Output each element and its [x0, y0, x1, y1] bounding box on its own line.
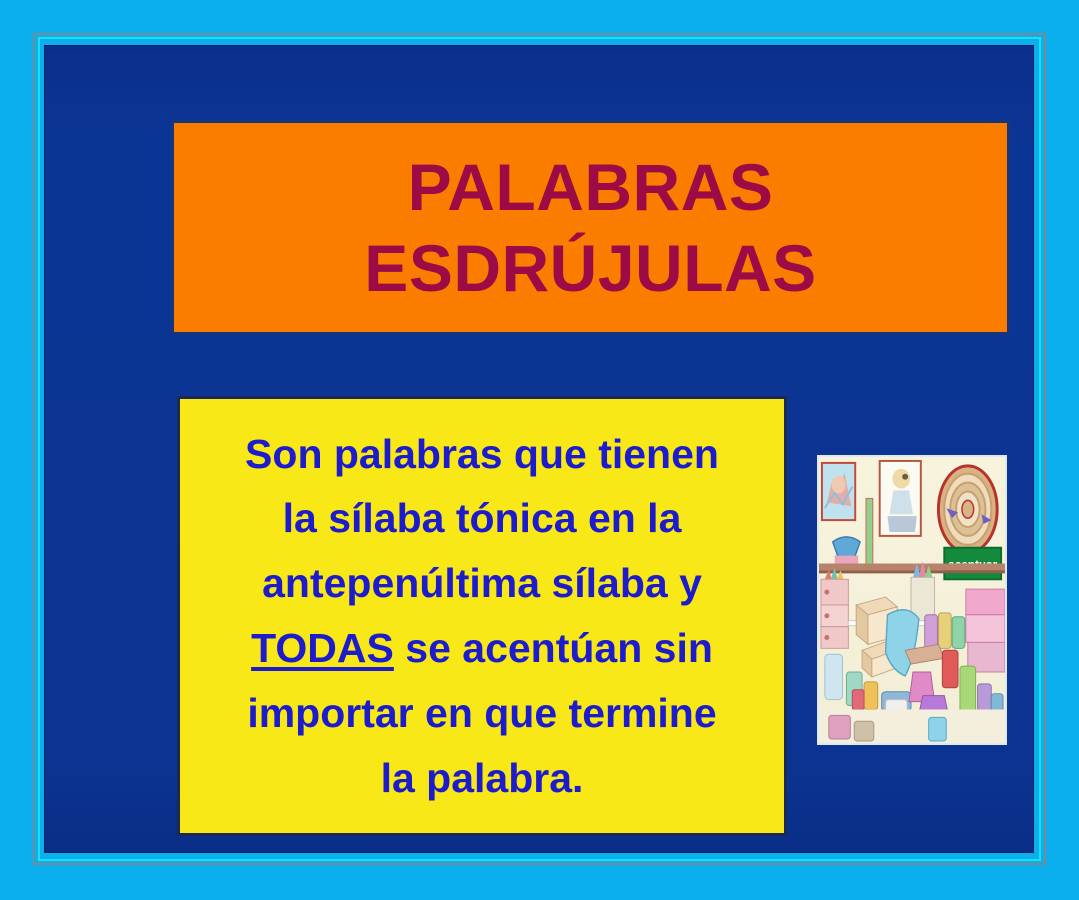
page-title-line-2: ESDRÚJULAS [364, 228, 816, 309]
definition-box: Son palabras que tienen la sílaba tónica… [177, 396, 787, 836]
definition-line: la palabra. [381, 746, 584, 811]
emphasis-todas: TODAS [251, 625, 394, 671]
definition-line: antepenúltima sílaba y [262, 551, 702, 616]
definition-line-emphasised: TODAS se acentúan sin [251, 616, 713, 681]
slide-canvas: PALABRAS ESDRÚJULAS Son palabras que tie… [0, 0, 1079, 900]
definition-line: Son palabras que tienen [245, 422, 719, 487]
title-box: PALABRAS ESDRÚJULAS [171, 120, 1010, 335]
illustration-craft-room: acentuar [817, 455, 1007, 745]
definition-line-tail: se acentúan sin [394, 625, 713, 671]
illustration-artwork: acentuar [819, 457, 1005, 743]
definition-line: importar en que termine [247, 681, 716, 746]
navy-content-panel: PALABRAS ESDRÚJULAS Son palabras que tie… [44, 45, 1034, 853]
definition-line: la sílaba tónica en la [283, 486, 682, 551]
page-title-line-1: PALABRAS [408, 147, 774, 228]
